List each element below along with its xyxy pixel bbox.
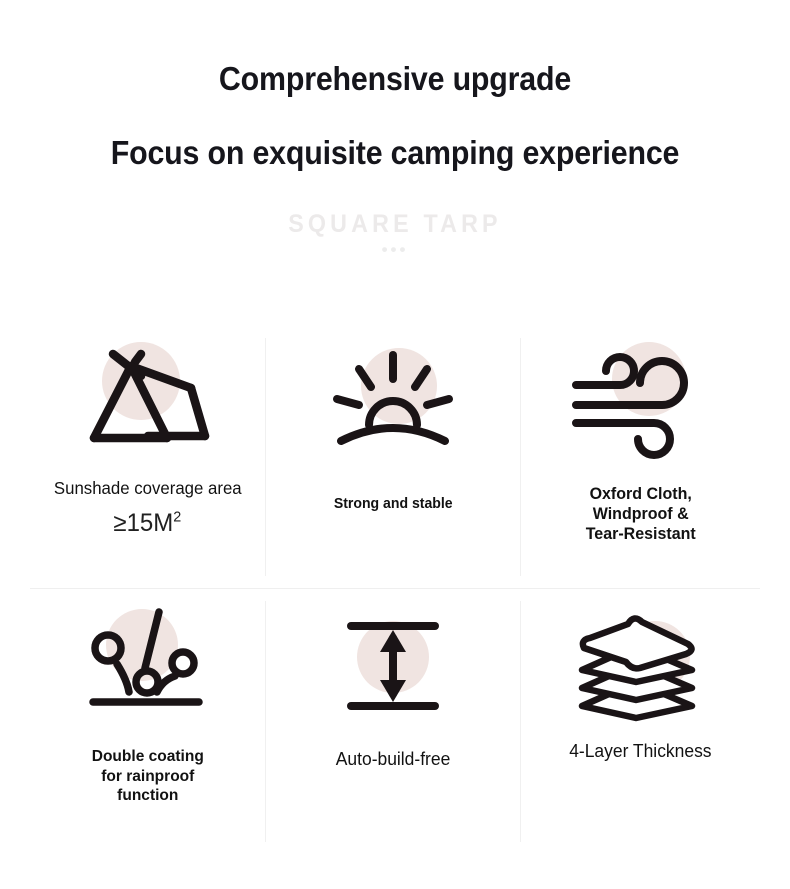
watermark-dots: ••• [0, 246, 790, 254]
coverage-area-number: ≥15M [114, 509, 174, 537]
wind-icon [570, 340, 710, 462]
page-subtitle: Focus on exquisite camping experience [32, 134, 759, 172]
water-repellent-icon [78, 601, 218, 723]
coverage-area-exponent: 2 [174, 509, 182, 526]
sunrise-icon [323, 342, 463, 464]
feature-label: 4-Layer Thickness [569, 741, 711, 763]
feature-label-line: Double coating [92, 747, 204, 767]
feature-row-bottom: Double coating for rainproof function [30, 595, 760, 850]
feature-cell-rainproof[interactable]: Double coating for rainproof function [30, 595, 265, 850]
horizontal-divider [30, 588, 760, 589]
feature-cell-sunshade[interactable]: Sunshade coverage area ≥15M2 [30, 332, 265, 584]
page-title: Comprehensive upgrade [32, 60, 759, 98]
page-header: Comprehensive upgrade Focus on exquisite… [0, 0, 790, 254]
watermark-label: SQUARE TARP [28, 210, 763, 239]
feature-cell-material[interactable]: Oxford Cloth, Windproof & Tear-Resistant [521, 332, 760, 584]
feature-label: Sunshade coverage area [54, 478, 242, 499]
feature-label-line: Windproof & [585, 504, 695, 524]
layers-icon [570, 603, 710, 725]
feature-cell-layers[interactable]: 4-Layer Thickness [521, 595, 760, 850]
feature-label-line: Oxford Cloth, [585, 484, 695, 504]
feature-row-top: Sunshade coverage area ≥15M2 [30, 332, 760, 584]
feature-label-line: function [92, 786, 204, 806]
tent-icon [78, 338, 218, 460]
feature-label-line: for rainproof [92, 767, 204, 787]
feature-label: Auto-build-free [336, 749, 451, 771]
height-arrow-icon [323, 605, 463, 727]
feature-label: Double coating for rainproof function [92, 747, 204, 806]
feature-cell-stability[interactable]: Strong and stable [266, 332, 519, 584]
feature-label-line: Tear-Resistant [585, 524, 695, 544]
feature-label: Strong and stable [334, 496, 453, 514]
feature-label: Oxford Cloth, Windproof & Tear-Resistant [585, 484, 695, 544]
feature-grid: Sunshade coverage area ≥15M2 [30, 332, 760, 850]
feature-cell-autobuild[interactable]: Auto-build-free [266, 595, 519, 850]
coverage-area-value: ≥15M2 [114, 508, 182, 539]
